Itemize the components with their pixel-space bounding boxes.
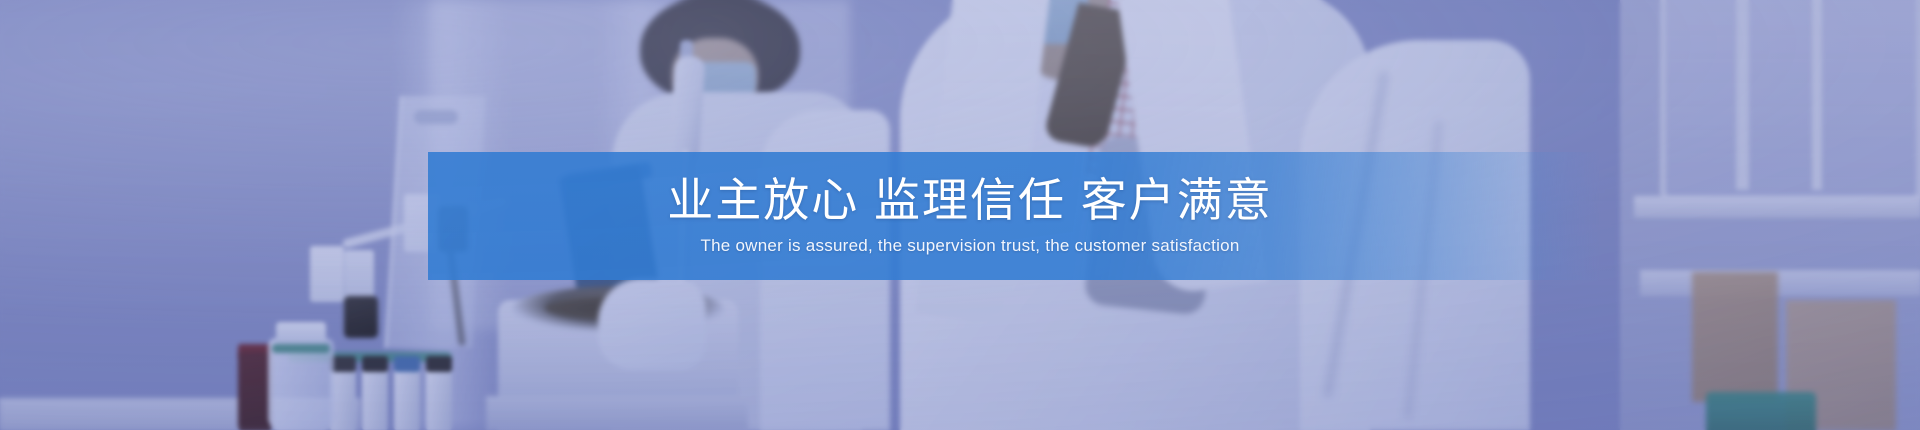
hero-banner: 业主放心 监理信任 客户满意 The owner is assured, the… [0, 0, 1920, 430]
banner-headline: 业主放心 监理信任 客户满意 [667, 176, 1361, 226]
banner-subtitle: The owner is assured, the supervision tr… [700, 236, 1327, 256]
banner-text-block: 业主放心 监理信任 客户满意 The owner is assured, the… [428, 152, 1600, 280]
